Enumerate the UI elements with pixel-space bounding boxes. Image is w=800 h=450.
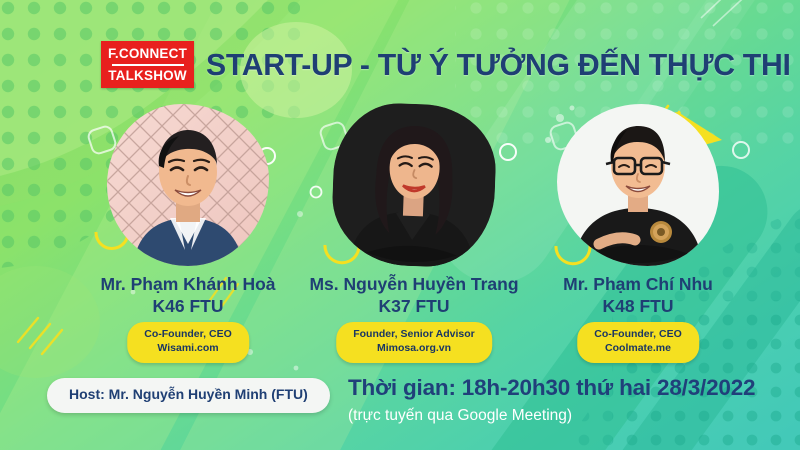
speaker-class-2: K37 FTU	[289, 296, 539, 316]
speaker-card-3: Mr. Phạm Chí Nhu K48 FTU Co-Founder, CEO…	[513, 104, 763, 374]
speaker-card-2: Ms. Nguyễn Huyền Trang K37 FTU Founder, …	[289, 104, 539, 374]
poster-canvas: F.CONNECT TALKSHOW START-UP - TỪ Ý TƯỞNG…	[0, 0, 800, 450]
speaker-card-1: Mr. Phạm Khánh Hoà K46 FTU Co-Founder, C…	[63, 104, 313, 374]
portrait-illustration-3	[557, 104, 719, 266]
logo-line-2: TALKSHOW	[108, 69, 187, 83]
speaker-photo-2	[333, 104, 495, 266]
logo-line-1: F.CONNECT	[108, 47, 187, 64]
poster-title: START-UP - TỪ Ý TƯỞNG ĐẾN THỰC THI	[206, 44, 760, 86]
speaker-class-1: K46 FTU	[63, 296, 313, 316]
speaker-company-1: Wisami.com	[144, 342, 232, 356]
speaker-role-3: Co-Founder, CEO	[594, 328, 682, 342]
speaker-class-3: K48 FTU	[513, 296, 763, 316]
speaker-role-2: Founder, Senior Advisor	[353, 328, 475, 342]
speaker-badge-2: Founder, Senior Advisor Mimosa.org.vn	[336, 322, 492, 363]
event-platform: (trực tuyến qua Google Meeting)	[348, 407, 572, 425]
photo-blob-3	[557, 104, 719, 266]
fconnect-talkshow-logo: F.CONNECT TALKSHOW	[101, 41, 194, 88]
speaker-name-3: Mr. Phạm Chí Nhu	[513, 274, 763, 294]
event-time: Thời gian: 18h-20h30 thứ hai 28/3/2022	[348, 375, 755, 401]
speaker-photo-1	[107, 104, 269, 266]
speaker-role-1: Co-Founder, CEO	[144, 328, 232, 342]
speaker-company-3: Coolmate.me	[594, 342, 682, 356]
photo-blob-1	[107, 104, 269, 266]
photo-blob-2	[330, 101, 498, 269]
speaker-badge-3: Co-Founder, CEO Coolmate.me	[577, 322, 699, 363]
portrait-illustration-1	[107, 104, 269, 266]
speaker-name-1: Mr. Phạm Khánh Hoà	[63, 274, 313, 294]
speaker-photo-3	[557, 104, 719, 266]
host-label: Host: Mr. Nguyễn Huyền Minh (FTU)	[69, 386, 308, 402]
speaker-badge-1: Co-Founder, CEO Wisami.com	[127, 322, 249, 363]
speaker-company-2: Mimosa.org.vn	[353, 342, 475, 356]
speaker-name-2: Ms. Nguyễn Huyền Trang	[289, 274, 539, 294]
logo-divider	[112, 64, 184, 66]
portrait-illustration-2	[330, 101, 498, 269]
host-pill: Host: Mr. Nguyễn Huyền Minh (FTU)	[47, 378, 330, 413]
